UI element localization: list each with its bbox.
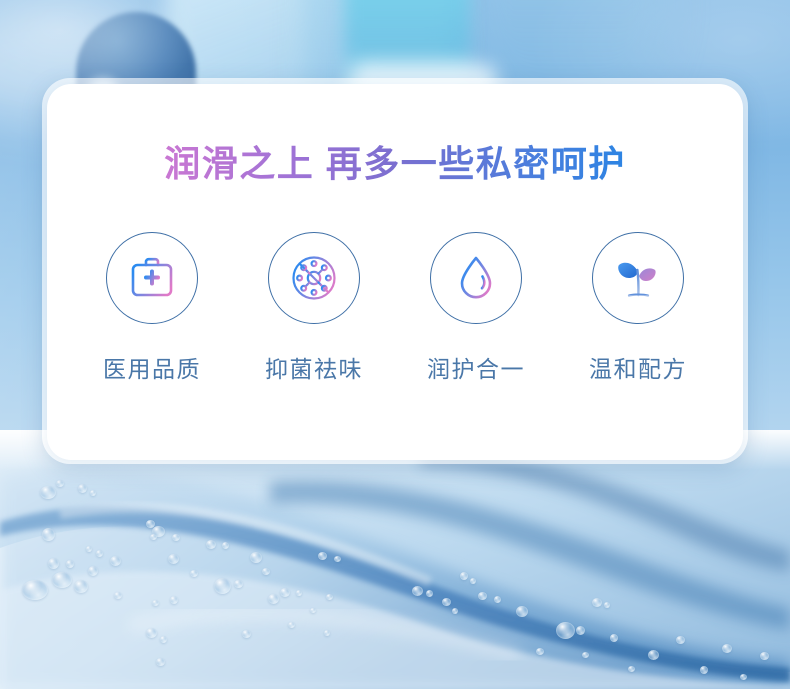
bubble — [610, 634, 618, 642]
bubble — [460, 572, 468, 580]
bubble — [412, 586, 423, 596]
bubble — [170, 596, 178, 604]
bubble — [146, 628, 157, 638]
bubble — [494, 596, 501, 603]
feature-card: 润滑之上 再多一些私密呵护 — [47, 84, 743, 460]
bubble — [592, 598, 602, 607]
feature-item-medical-quality[interactable]: 医用品质 — [77, 232, 227, 384]
bubble — [760, 652, 769, 660]
bubble — [452, 608, 458, 614]
bubble — [576, 626, 585, 635]
bubble — [722, 644, 732, 653]
ground-line — [629, 295, 648, 296]
right-leaf — [639, 268, 656, 281]
bubble — [426, 590, 433, 597]
bubble — [190, 570, 198, 577]
promo-banner: 润滑之上 再多一些私密呵护 — [0, 0, 790, 689]
bubble — [66, 560, 74, 568]
bubble — [222, 542, 229, 549]
sprout-leaf-icon — [610, 250, 666, 306]
bubble — [114, 592, 122, 599]
stem — [637, 270, 638, 295]
bubble — [250, 552, 262, 563]
bubble — [86, 546, 92, 552]
bubble — [78, 484, 87, 493]
anti-bacteria-icon — [287, 251, 341, 305]
bubble — [556, 622, 575, 639]
bubble — [242, 630, 251, 638]
feature-item-antibacterial[interactable]: 抑菌祛味 — [239, 232, 389, 384]
bubble — [214, 578, 231, 594]
bubble — [74, 580, 88, 593]
bubble — [288, 622, 295, 628]
bubble — [582, 652, 589, 658]
left-leaf — [618, 263, 638, 278]
bubble — [40, 486, 56, 499]
bubble — [268, 594, 279, 604]
icon-circle — [430, 232, 522, 324]
bubble — [280, 588, 290, 597]
bubble — [478, 592, 487, 600]
feature-label: 润护合一 — [427, 350, 525, 384]
bubble — [628, 666, 635, 672]
icon-circle — [268, 232, 360, 324]
icon-circle — [592, 232, 684, 324]
bubble — [90, 490, 96, 496]
water-droplet-icon — [449, 251, 503, 305]
page-title: 润滑之上 再多一些私密呵护 — [47, 144, 743, 184]
bubble — [516, 606, 528, 617]
bubble — [470, 578, 476, 584]
icon-circle — [106, 232, 198, 324]
bubble — [152, 600, 159, 606]
bubble — [676, 636, 685, 644]
bubble — [310, 608, 316, 613]
bubble — [296, 590, 302, 596]
bubble — [318, 552, 327, 560]
bubble — [206, 540, 216, 549]
bubble — [52, 572, 72, 588]
bubble — [48, 558, 59, 569]
bubble — [700, 666, 708, 674]
medical-kit-icon — [125, 251, 179, 305]
feature-list: 医用品质 — [77, 232, 713, 384]
bubble — [156, 658, 165, 666]
water-wave-background — [0, 430, 790, 689]
bubble — [648, 650, 659, 660]
feature-label: 医用品质 — [103, 350, 201, 384]
bubble — [88, 566, 98, 576]
bubble — [56, 480, 64, 487]
feature-item-gentle-formula[interactable]: 温和配方 — [563, 232, 713, 384]
bubble — [324, 630, 330, 636]
bubble — [160, 636, 167, 643]
bubble — [150, 534, 157, 540]
feature-label: 温和配方 — [589, 350, 687, 384]
bubble — [22, 580, 48, 600]
bubble — [168, 554, 179, 564]
bubble — [740, 674, 747, 680]
bubble — [442, 598, 451, 606]
feature-item-moisture-care[interactable]: 润护合一 — [401, 232, 551, 384]
bubble — [96, 550, 103, 557]
bubble — [172, 534, 180, 541]
bubble — [334, 556, 341, 562]
bubble — [604, 602, 610, 608]
bubble — [42, 528, 55, 541]
bubble — [536, 648, 544, 655]
bubble — [262, 568, 270, 575]
bubble — [326, 594, 333, 600]
bubble — [110, 556, 121, 566]
feature-label: 抑菌祛味 — [265, 350, 363, 384]
bubble — [234, 580, 243, 588]
